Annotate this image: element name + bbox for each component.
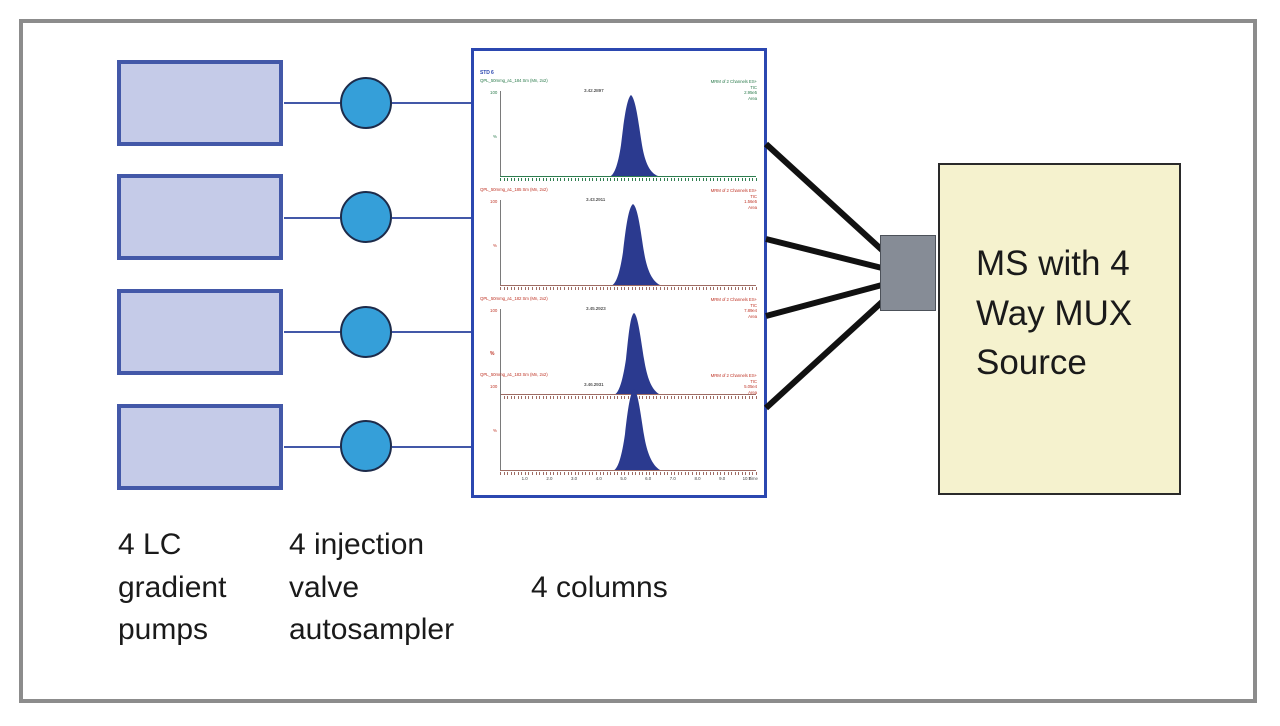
caption-pumps: 4 LC gradient pumps	[118, 524, 226, 652]
x-tick-label: 8.0	[694, 476, 700, 481]
injection-valve-1[interactable]	[340, 77, 392, 129]
y-axis-top-label: 100	[490, 308, 497, 313]
y-axis-top-label: 100	[490, 90, 497, 95]
diagram-canvas: STD 6 QPL_50mmg_a1_184 Sm (Mn, 2x2) MRM …	[0, 0, 1280, 726]
peak-curve	[500, 93, 762, 177]
baseline	[500, 470, 756, 471]
x-tick-label: 6.0	[645, 476, 651, 481]
tick-strip	[500, 287, 756, 290]
ms-instrument-label: MS with 4 Way MUX Source	[976, 239, 1176, 388]
y-axis-top-label: 100	[490, 199, 497, 204]
injection-valve-4[interactable]	[340, 420, 392, 472]
chromatogram-trace-1: STD 6 QPL_50mmg_a1_184 Sm (Mn, 2x2) MRM …	[474, 79, 764, 183]
trace-header-left: QPL_50mmg_a1_183 Sm (Mn, 2x2)	[480, 373, 548, 377]
injection-valve-3[interactable]	[340, 306, 392, 358]
link-valve1-panel	[392, 102, 474, 104]
lc-pump-4[interactable]	[117, 404, 283, 490]
link-valve3-panel	[392, 331, 474, 333]
y-axis-pct-label: %	[493, 428, 497, 433]
injection-valve-2[interactable]	[340, 191, 392, 243]
link-pump2-valve2	[284, 217, 340, 219]
caption-valves: 4 injection valve autosampler	[289, 524, 454, 652]
baseline	[500, 176, 756, 177]
trace-mrm-label: MRM of 2 Channels ES+	[711, 188, 757, 194]
peak-curve	[500, 202, 762, 286]
x-axis-title: Time	[748, 476, 758, 481]
x-tick-label: 2.0	[546, 476, 552, 481]
x-tick-label: 9.0	[719, 476, 725, 481]
link-pump3-valve3	[284, 331, 340, 333]
lc-pump-1[interactable]	[117, 60, 283, 146]
lc-pump-3[interactable]	[117, 289, 283, 375]
tick-strip	[500, 472, 756, 475]
y-axis-top-label: 100	[490, 384, 497, 389]
sample-tag: STD 6	[480, 70, 494, 76]
link-pump1-valve1	[284, 102, 340, 104]
trace-header-left: QPL_50mmg_a1_182 Sm (Mn, 2x2)	[480, 297, 548, 301]
x-tick-label: 1.0	[522, 476, 528, 481]
trace-mrm-label: MRM of 2 Channels ES+	[711, 297, 757, 303]
chromatogram-trace-4: QPL_50mmg_a1_183 Sm (Mn, 2x2) MRM of 2 C…	[474, 373, 764, 493]
link-pump4-valve4	[284, 446, 340, 448]
lc-pump-2[interactable]	[117, 174, 283, 260]
y-axis-pct-label: %	[493, 134, 497, 139]
y-axis-marker: %	[490, 351, 494, 357]
ms-instrument-box[interactable]: MS with 4 Way MUX Source	[938, 163, 1181, 495]
y-axis-pct-label: %	[493, 243, 497, 248]
trace-header-left: QPL_50mmg_a1_185 Sm (Mn, 2x2)	[480, 188, 548, 192]
chromatogram-panel[interactable]: STD 6 QPL_50mmg_a1_184 Sm (Mn, 2x2) MRM …	[471, 48, 767, 498]
caption-columns: 4 columns	[531, 567, 668, 610]
link-valve2-panel	[392, 217, 474, 219]
chromatogram-trace-2: QPL_50mmg_a1_185 Sm (Mn, 2x2) MRM of 2 C…	[474, 188, 764, 292]
trace-mrm-label: MRM of 2 Channels ES+	[711, 373, 757, 379]
tick-strip	[500, 178, 756, 181]
baseline	[500, 285, 756, 286]
mux-interface-block[interactable]	[880, 235, 936, 311]
x-tick-label: 7.0	[670, 476, 676, 481]
trace-header-left: QPL_50mmg_a1_184 Sm (Mn, 2x2)	[480, 79, 548, 83]
link-valve4-panel	[392, 446, 474, 448]
peak-curve	[500, 387, 762, 471]
x-tick-label: 4.0	[596, 476, 602, 481]
x-tick-label: 3.0	[571, 476, 577, 481]
x-tick-label: 5.0	[620, 476, 626, 481]
trace-mrm-label: MRM of 2 Channels ES+	[711, 79, 757, 85]
x-axis-labels: 1.02.03.04.05.06.07.08.09.010.0Time	[500, 476, 758, 484]
